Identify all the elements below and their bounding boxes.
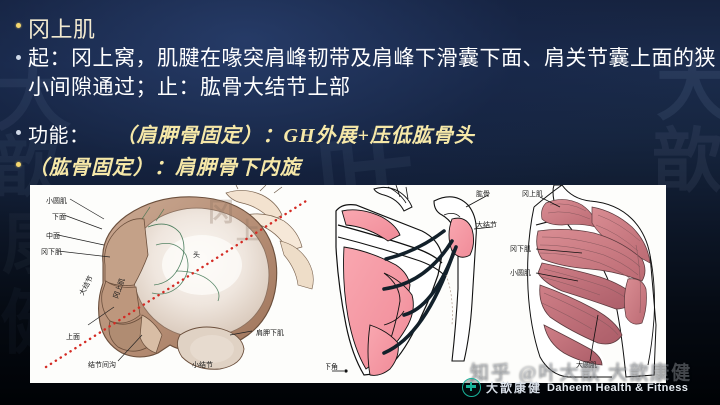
- humeral-head-illustration: 冈 上: [30, 185, 326, 383]
- bullet-item-function-humerus-fixed: （肱骨固定）：肩胛骨下内旋: [16, 151, 301, 180]
- figure-scapula-attachments: 肱骨 大结节 下角: [326, 185, 506, 383]
- label-humerus: 肱骨: [476, 190, 490, 198]
- bullet-marker-gold: [16, 162, 21, 167]
- posterior-muscles-illustration: [506, 185, 666, 383]
- brand-name-english: Daheem Health & Fitness: [547, 382, 688, 394]
- label-infraspinatus: 冈下肌: [510, 245, 531, 253]
- label-inferior-angle: 下角: [326, 363, 338, 371]
- label-superior-facet: 上面: [66, 333, 80, 341]
- label-inferior-facet: 下面: [52, 213, 66, 221]
- label-middle-facet: 中面: [46, 232, 60, 240]
- bullet-label-function: 功能：: [28, 119, 90, 148]
- label-lesser-tubercle: 小结节: [192, 361, 213, 369]
- brand-name-chinese: 大歆康健: [486, 379, 542, 396]
- brand-watermark: 大歆康健 Daheem Health & Fitness: [462, 378, 688, 397]
- bullet-marker-white: [16, 130, 21, 135]
- label-infraspinatus: 冈下肌: [41, 248, 62, 256]
- figure-humeral-head-superior: 冈 上 小圆肌 下面 中面 冈下肌 头 大结节 冈上肌 上面 结节间沟: [30, 185, 326, 383]
- anatomy-figure-band: 冈 上 小圆肌 下面 中面 冈下肌 头 大结节 冈上肌 上面 结节间沟: [30, 185, 666, 383]
- label-subscapularis: 肩胛下肌: [256, 329, 284, 337]
- scapula-illustration: [326, 185, 506, 383]
- bullet-text-function-scapula-fixed: （肩胛骨固定）：GH外展+压低肱骨头: [116, 119, 475, 148]
- bullet-marker-gold: [16, 23, 21, 28]
- medical-cross-logo-icon: [462, 378, 481, 397]
- bullet-text-origin-insertion: 起：冈上窝，肌腱在喙突肩峰韧带及肩峰下滑囊下面、肩关节囊上面的狭小间隙通过；止：…: [28, 44, 718, 102]
- label-intertubercular-groove: 结节间沟: [88, 361, 116, 369]
- label-teres-minor: 小圆肌: [510, 269, 531, 277]
- bullet-text-muscle-name: 冈上肌: [28, 12, 96, 44]
- bullet-item-function-scapula-fixed: 功能： （肩胛骨固定）：GH外展+压低肱骨头: [16, 119, 475, 148]
- bullet-item-title: 冈上肌: [16, 12, 96, 44]
- label-head: 头: [193, 251, 200, 259]
- figure-posterior-shoulder-muscles: 冈上肌 冈下肌 小圆肌 大圆肌: [506, 185, 666, 383]
- bullet-item-origin-insertion: 起：冈上窝，肌腱在喙突肩峰韧带及肩峰下滑囊下面、肩关节囊上面的狭小间隙通过；止：…: [16, 44, 718, 102]
- bullet-marker-white: [16, 55, 21, 60]
- label-supraspinatus: 冈上肌: [522, 190, 543, 198]
- presentation-slide: 大 歆 康 健 大 歆 叶 冈上肌 起：冈上窝，肌腱在喙突肩峰韧带及肩峰下滑囊下…: [0, 0, 720, 405]
- label-greater-tubercle: 大结节: [476, 221, 497, 229]
- svg-text:冈: 冈: [208, 198, 234, 227]
- bullet-text-function-humerus-fixed: （肱骨固定）：肩胛骨下内旋: [28, 151, 301, 180]
- label-teres-minor: 小圆肌: [46, 197, 67, 205]
- panel-divider: [324, 185, 326, 383]
